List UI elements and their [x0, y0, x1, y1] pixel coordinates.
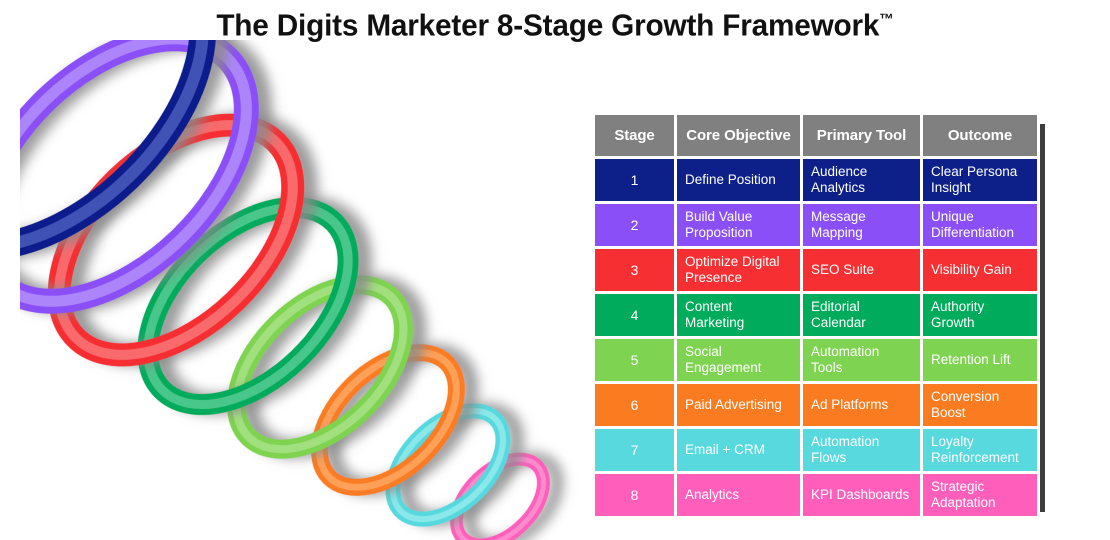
cell-core-objective: Build Value Proposition [677, 204, 800, 246]
column-header-primary-tool: Primary Tool [803, 115, 920, 156]
cell-primary-tool: SEO Suite [803, 249, 920, 291]
cell-core-objective: Optimize Digital Presence [677, 249, 800, 291]
cell-core-objective: Email + CRM [677, 429, 800, 471]
cell-outcome: Visibility Gain [923, 249, 1037, 291]
cell-outcome: Authority Growth [923, 294, 1037, 336]
framework-table-wrapper: Stage Core Objective Primary Tool Outcom… [592, 112, 1028, 519]
cell-outcome: Strategic Adaptation [923, 474, 1037, 516]
cell-core-objective: Content Marketing [677, 294, 800, 336]
cell-outcome: Retention Lift [923, 339, 1037, 381]
table-row: 2Build Value PropositionMessage MappingU… [595, 204, 1037, 246]
table-body: 1Define PositionAudience AnalyticsClear … [595, 159, 1037, 516]
cell-primary-tool: Message Mapping [803, 204, 920, 246]
cell-core-objective: Paid Advertising [677, 384, 800, 426]
column-header-stage: Stage [595, 115, 674, 156]
cell-core-objective: Analytics [677, 474, 800, 516]
table-row: 1Define PositionAudience AnalyticsClear … [595, 159, 1037, 201]
page-title: The Digits Marketer 8-Stage Growth Frame… [22, 0, 1088, 44]
column-header-outcome: Outcome [923, 115, 1037, 156]
cell-stage: 8 [595, 474, 674, 516]
spiral-cone-of-rings [20, 40, 580, 540]
table-row: 5Social EngagementAutomation ToolsRetent… [595, 339, 1037, 381]
table-row: 7Email + CRMAutomation FlowsLoyalty Rein… [595, 429, 1037, 471]
cell-outcome: Loyalty Reinforcement [923, 429, 1037, 471]
cell-stage: 3 [595, 249, 674, 291]
page-title-text: The Digits Marketer 8-Stage Growth Frame… [216, 7, 879, 42]
cell-stage: 2 [595, 204, 674, 246]
cell-core-objective: Define Position [677, 159, 800, 201]
table-header: Stage Core Objective Primary Tool Outcom… [595, 115, 1037, 156]
cell-outcome: Conversion Boost [923, 384, 1037, 426]
cell-primary-tool: Automation Flows [803, 429, 920, 471]
cell-primary-tool: KPI Dashboards [803, 474, 920, 516]
cell-core-objective: Social Engagement [677, 339, 800, 381]
cell-stage: 4 [595, 294, 674, 336]
cell-stage: 6 [595, 384, 674, 426]
cell-primary-tool: Automation Tools [803, 339, 920, 381]
table-row: 8AnalyticsKPI DashboardsStrategic Adapta… [595, 474, 1037, 516]
spiral-rings-svg [20, 40, 580, 540]
cell-stage: 7 [595, 429, 674, 471]
table-header-row: Stage Core Objective Primary Tool Outcom… [595, 115, 1037, 156]
cell-outcome: Unique Differentiation [923, 204, 1037, 246]
ring-stage-6 [294, 327, 481, 513]
framework-table: Stage Core Objective Primary Tool Outcom… [592, 112, 1040, 519]
cell-stage: 5 [595, 339, 674, 381]
framework-infographic: The Digits Marketer 8-Stage Growth Frame… [0, 0, 1110, 540]
cell-primary-tool: Audience Analytics [803, 159, 920, 201]
cell-primary-tool: Editorial Calendar [803, 294, 920, 336]
table-row: 3Optimize Digital PresenceSEO SuiteVisib… [595, 249, 1037, 291]
table-row: 4Content MarketingEditorial CalendarAuth… [595, 294, 1037, 336]
column-header-core-objective: Core Objective [677, 115, 800, 156]
cell-stage: 1 [595, 159, 674, 201]
trademark-symbol: ™ [879, 11, 893, 28]
cell-primary-tool: Ad Platforms [803, 384, 920, 426]
table-row: 6Paid AdvertisingAd PlatformsConversion … [595, 384, 1037, 426]
cell-outcome: Clear Persona Insight [923, 159, 1037, 201]
